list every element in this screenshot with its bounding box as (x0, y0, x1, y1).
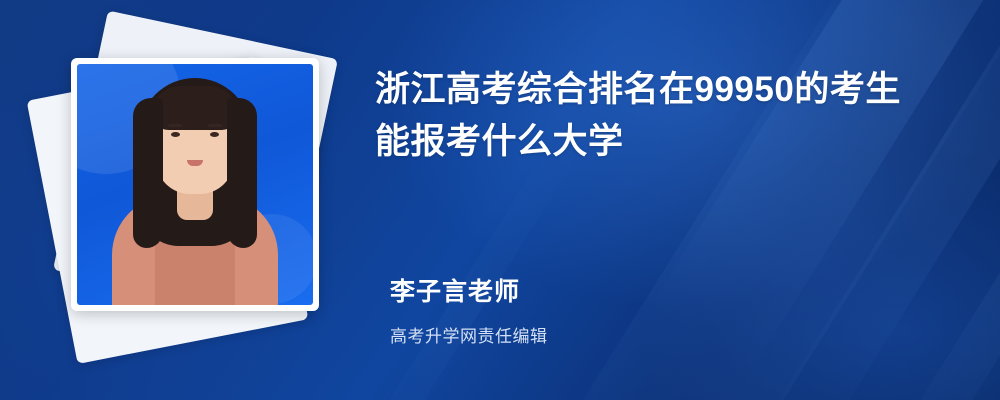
author-photo-stack (42, 24, 352, 376)
streak-decoration (336, 129, 584, 400)
author-portrait-photo (77, 64, 313, 305)
photo-card-front (71, 58, 319, 311)
author-block: 李子言老师 高考升学网责任编辑 (390, 272, 548, 347)
portrait-eyebrow-left (168, 124, 182, 127)
glow-decoration (640, 150, 1000, 400)
portrait-eye-left (171, 132, 180, 137)
headline-line-1: 浙江高考综合排名在99950的考生 (375, 64, 965, 116)
author-name: 李子言老师 (390, 272, 548, 308)
article-cover-banner: 浙江高考综合排名在99950的考生 能报考什么大学 李子言老师 高考升学网责任编… (0, 0, 1000, 400)
portrait-illustration (77, 64, 313, 305)
portrait-eyebrow-right (208, 124, 222, 127)
headline-block: 浙江高考综合排名在99950的考生 能报考什么大学 (375, 64, 965, 168)
portrait-hair-left (133, 98, 163, 248)
author-role: 高考升学网责任编辑 (390, 322, 548, 347)
streak-decoration (759, 0, 1000, 400)
portrait-fringe (152, 86, 238, 130)
streak-decoration (648, 0, 1000, 374)
headline-line-2: 能报考什么大学 (375, 116, 965, 168)
portrait-eye-right (210, 132, 219, 137)
streak-decoration (469, 0, 1000, 400)
portrait-hair-right (227, 98, 257, 248)
